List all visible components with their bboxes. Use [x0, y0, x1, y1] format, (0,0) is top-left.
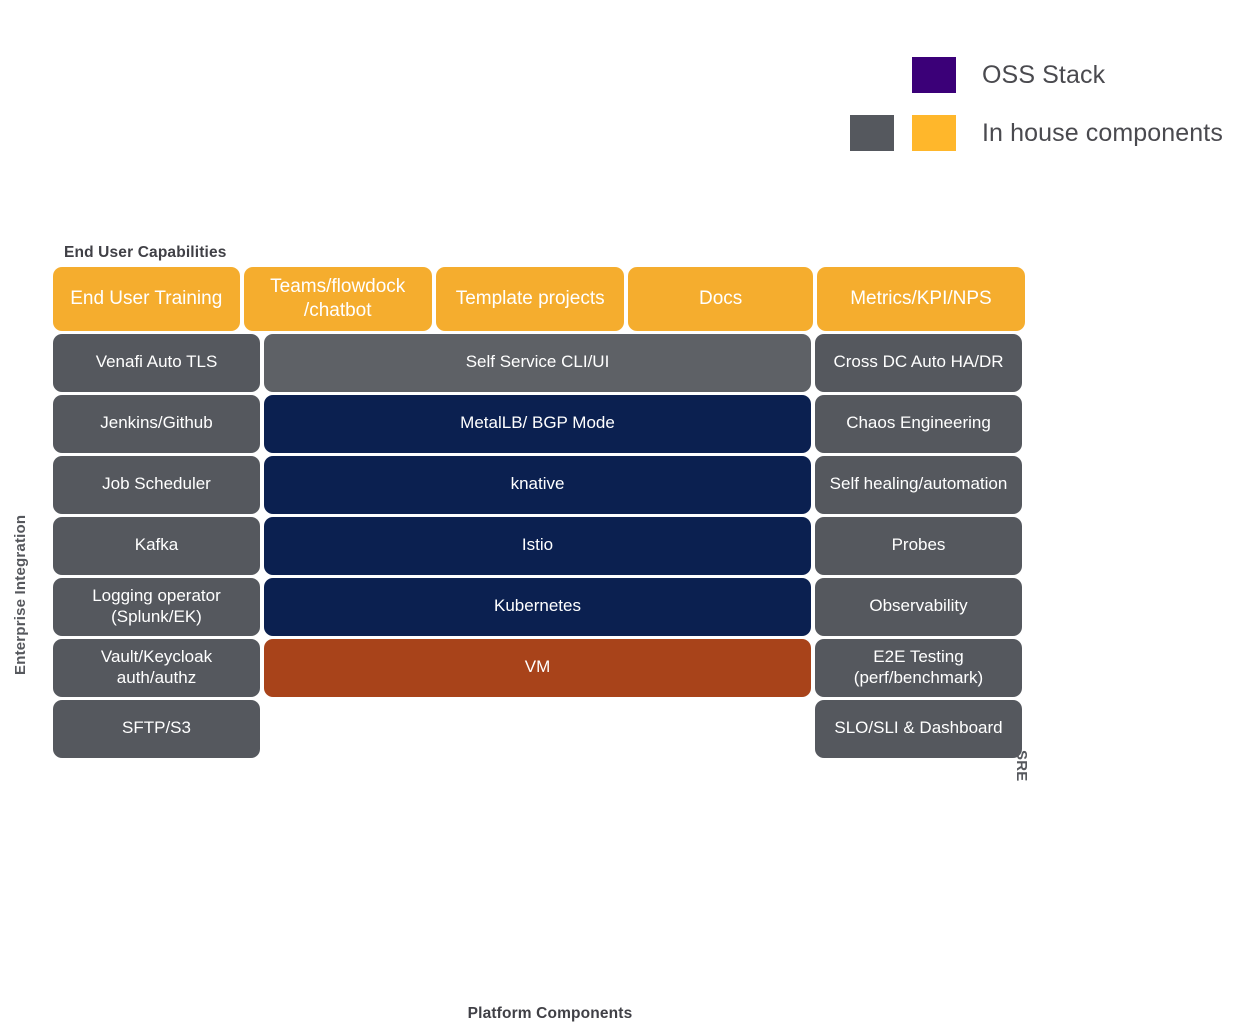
- platform-box-vm[interactable]: VM: [264, 639, 811, 697]
- box-label: Cross DC Auto HA/DR: [833, 352, 1003, 373]
- box-label: knative: [511, 474, 565, 495]
- sre-box-probes[interactable]: Probes: [815, 517, 1022, 575]
- box-label: Vault/Keycloak auth/authz: [60, 647, 253, 688]
- box-label: MetalLB/ BGP Mode: [460, 413, 615, 434]
- box-label: Logging operator (Splunk/EK): [60, 586, 253, 627]
- box-label: Observability: [869, 596, 967, 617]
- end-user-capabilities-row: End User TrainingTeams/flowdock /chatbot…: [51, 265, 1027, 332]
- enterprise-integration-axis-label: Enterprise Integration: [12, 645, 29, 675]
- end-user-box-metrics-kpi-nps[interactable]: Metrics/KPI/NPS: [817, 267, 1025, 331]
- end-user-box-template-projects[interactable]: Template projects: [436, 267, 624, 331]
- end-user-box-teams-flowdock-chatbot[interactable]: Teams/flowdock /chatbot: [244, 267, 432, 331]
- end-user-box-docs[interactable]: Docs: [628, 267, 813, 331]
- box-label: SLO/SLI & Dashboard: [834, 718, 1002, 739]
- sre-axis-label: SRE: [1013, 750, 1030, 781]
- enterprise-integration-column: Venafi Auto TLSJenkins/GithubJob Schedul…: [51, 332, 262, 759]
- legend: OSS Stack In house components: [850, 46, 1223, 162]
- platform-components-caption: Platform Components: [0, 1005, 1100, 1023]
- legend-row-inhouse: In house components: [850, 104, 1223, 162]
- box-label: VM: [525, 657, 551, 678]
- sre-box-chaos-engineering[interactable]: Chaos Engineering: [815, 395, 1022, 453]
- platform-box-knative[interactable]: knative: [264, 456, 811, 514]
- legend-spacer: [850, 57, 894, 93]
- platform-box-istio[interactable]: Istio: [264, 517, 811, 575]
- box-label: E2E Testing (perf/benchmark): [822, 647, 1015, 688]
- box-label: Template projects: [456, 287, 605, 310]
- box-label: End User Training: [70, 287, 222, 310]
- platform-components-column: Self Service CLI/UIMetalLB/ BGP Modeknat…: [262, 332, 813, 759]
- box-label: Self healing/automation: [830, 474, 1008, 495]
- box-label: Metrics/KPI/NPS: [850, 287, 991, 310]
- legend-swatch-gray: [850, 115, 894, 151]
- legend-swatch-orange: [912, 115, 956, 151]
- end-user-box-end-user-training[interactable]: End User Training: [53, 267, 240, 331]
- sre-box-self-healing-automation[interactable]: Self healing/automation: [815, 456, 1022, 514]
- box-label: SFTP/S3: [122, 718, 191, 739]
- sre-box-cross-dc-auto-ha-dr[interactable]: Cross DC Auto HA/DR: [815, 334, 1022, 392]
- legend-label-inhouse: In house components: [982, 119, 1223, 148]
- diagram-grid: End User TrainingTeams/flowdock /chatbot…: [51, 265, 1027, 759]
- platform-box-self-service-cli-ui[interactable]: Self Service CLI/UI: [264, 334, 811, 392]
- legend-label-oss: OSS Stack: [982, 61, 1105, 90]
- box-label: Self Service CLI/UI: [466, 352, 610, 373]
- box-label: Docs: [699, 287, 742, 310]
- box-label: Teams/flowdock /chatbot: [251, 275, 425, 321]
- box-label: Kafka: [135, 535, 178, 556]
- sre-column: Cross DC Auto HA/DRChaos EngineeringSelf…: [813, 332, 1024, 759]
- integration-box-venafi-auto-tls[interactable]: Venafi Auto TLS: [53, 334, 260, 392]
- integration-box-vault-keycloak-auth-authz[interactable]: Vault/Keycloak auth/authz: [53, 639, 260, 697]
- sre-box-slo-sli-dashboard[interactable]: SLO/SLI & Dashboard: [815, 700, 1022, 758]
- integration-box-job-scheduler[interactable]: Job Scheduler: [53, 456, 260, 514]
- box-label: Venafi Auto TLS: [96, 352, 218, 373]
- legend-swatch-oss: [912, 57, 956, 93]
- box-label: Job Scheduler: [102, 474, 211, 495]
- box-label: Probes: [892, 535, 946, 556]
- end-user-capabilities-caption: End User Capabilities: [64, 244, 227, 262]
- box-label: Jenkins/Github: [100, 413, 212, 434]
- box-label: Chaos Engineering: [846, 413, 991, 434]
- sre-box-e2e-testing-perf-benchmark[interactable]: E2E Testing (perf/benchmark): [815, 639, 1022, 697]
- legend-row-oss: OSS Stack: [850, 46, 1223, 104]
- integration-box-logging-operator-splunk-ek[interactable]: Logging operator (Splunk/EK): [53, 578, 260, 636]
- box-label: Kubernetes: [494, 596, 581, 617]
- platform-box-metallb-bgp-mode[interactable]: MetalLB/ BGP Mode: [264, 395, 811, 453]
- box-label: Istio: [522, 535, 553, 556]
- platform-box-kubernetes[interactable]: Kubernetes: [264, 578, 811, 636]
- integration-box-jenkins-github[interactable]: Jenkins/Github: [53, 395, 260, 453]
- integration-box-sftp-s3[interactable]: SFTP/S3: [53, 700, 260, 758]
- platform-band: Venafi Auto TLSJenkins/GithubJob Schedul…: [51, 332, 1027, 759]
- sre-box-observability[interactable]: Observability: [815, 578, 1022, 636]
- integration-box-kafka[interactable]: Kafka: [53, 517, 260, 575]
